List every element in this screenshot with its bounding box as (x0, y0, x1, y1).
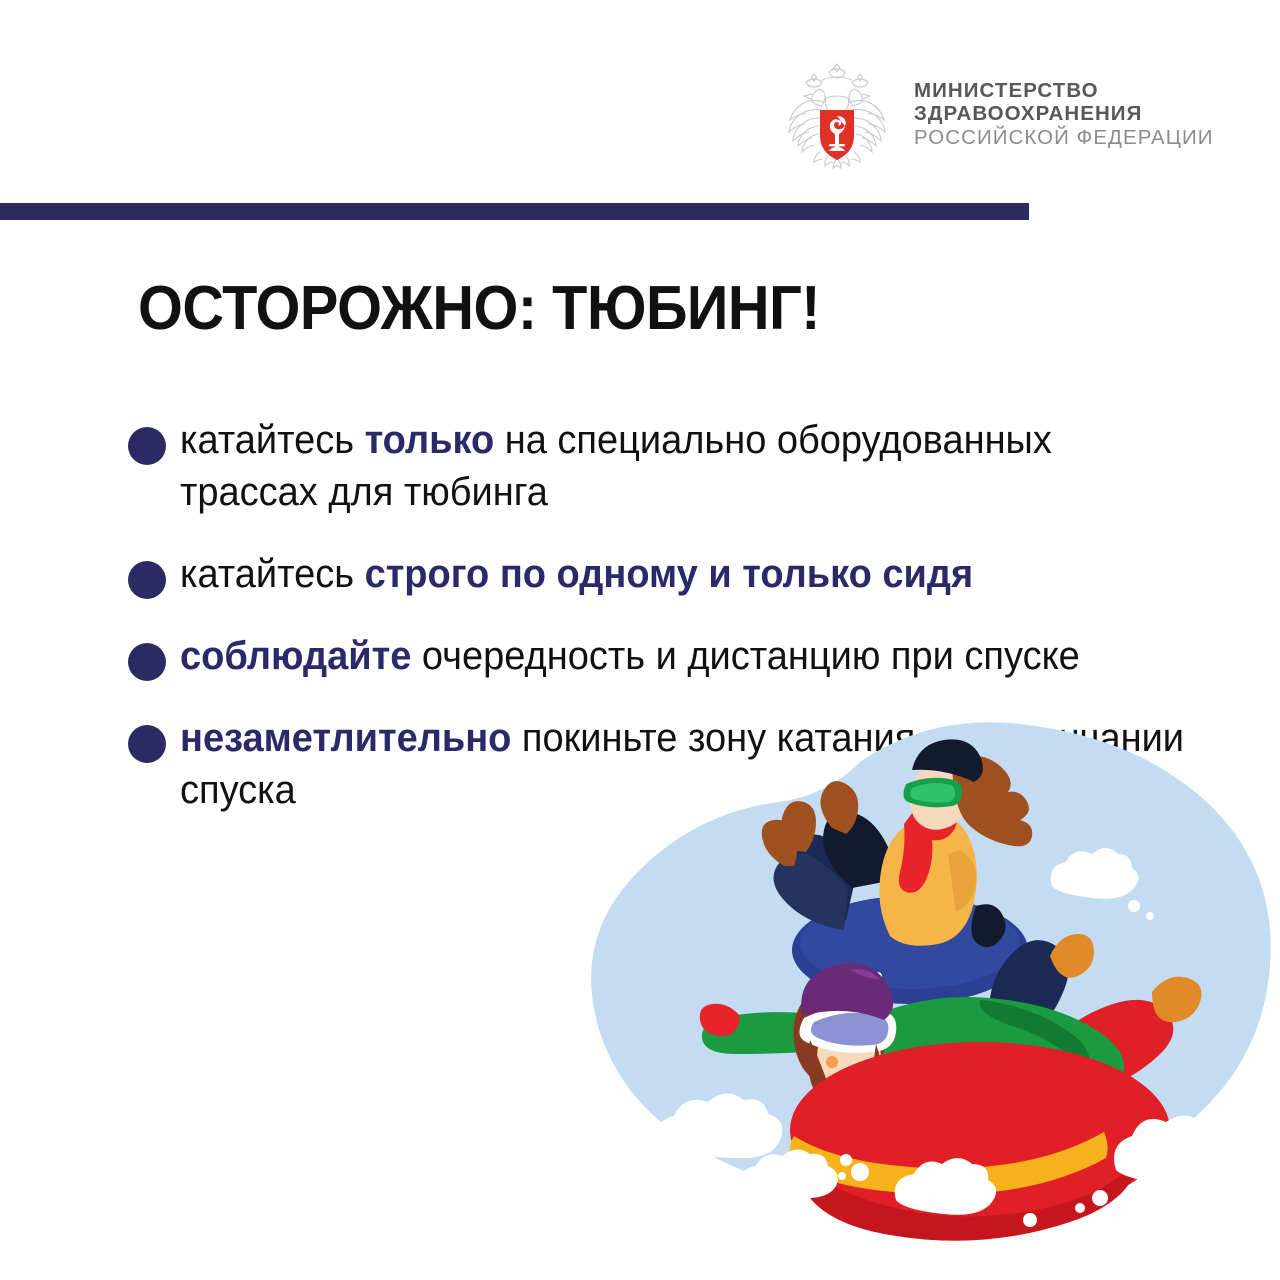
bullet-dot-icon (128, 561, 166, 599)
list-item-text: катайтесь только на специально оборудова… (180, 414, 1190, 518)
bullet-dot-icon (128, 725, 166, 763)
list-item: катайтесь строго по одному и только сидя (128, 548, 1243, 600)
ministry-logo-text: МИНИСТЕРСТВО ЗДРАВООХРАНЕНИЯ РОССИЙСКОЙ … (914, 79, 1214, 148)
list-item-text: катайтесь строго по одному и только сидя (180, 548, 1190, 600)
org-line-ministry: МИНИСТЕРСТВО (914, 79, 1214, 102)
list-item: катайтесь только на специально оборудова… (128, 414, 1243, 518)
blush (826, 1056, 838, 1068)
list-item-text: соблюдайте очередность и дистанцию при с… (180, 630, 1190, 682)
bullet-dot-icon (128, 427, 166, 465)
org-line-federation: РОССИЙСКОЙ ФЕДЕРАЦИИ (914, 126, 1214, 149)
header-divider-bar (0, 203, 1029, 220)
page-title: ОСТОРОЖНО: ТЮБИНГ! (138, 273, 820, 344)
ministry-logo: МИНИСТЕРСТВО ЗДРАВООХРАНЕНИЯ РОССИЙСКОЙ … (782, 58, 1214, 170)
org-line-healthcare: ЗДРАВООХРАНЕНИЯ (914, 102, 1214, 125)
bullet-dot-icon (128, 643, 166, 681)
russian-coat-of-arms-emblem (782, 58, 892, 170)
two-people-snow-tubing-illustration (560, 700, 1280, 1280)
list-item: соблюдайте очередность и дистанцию при с… (128, 630, 1243, 682)
